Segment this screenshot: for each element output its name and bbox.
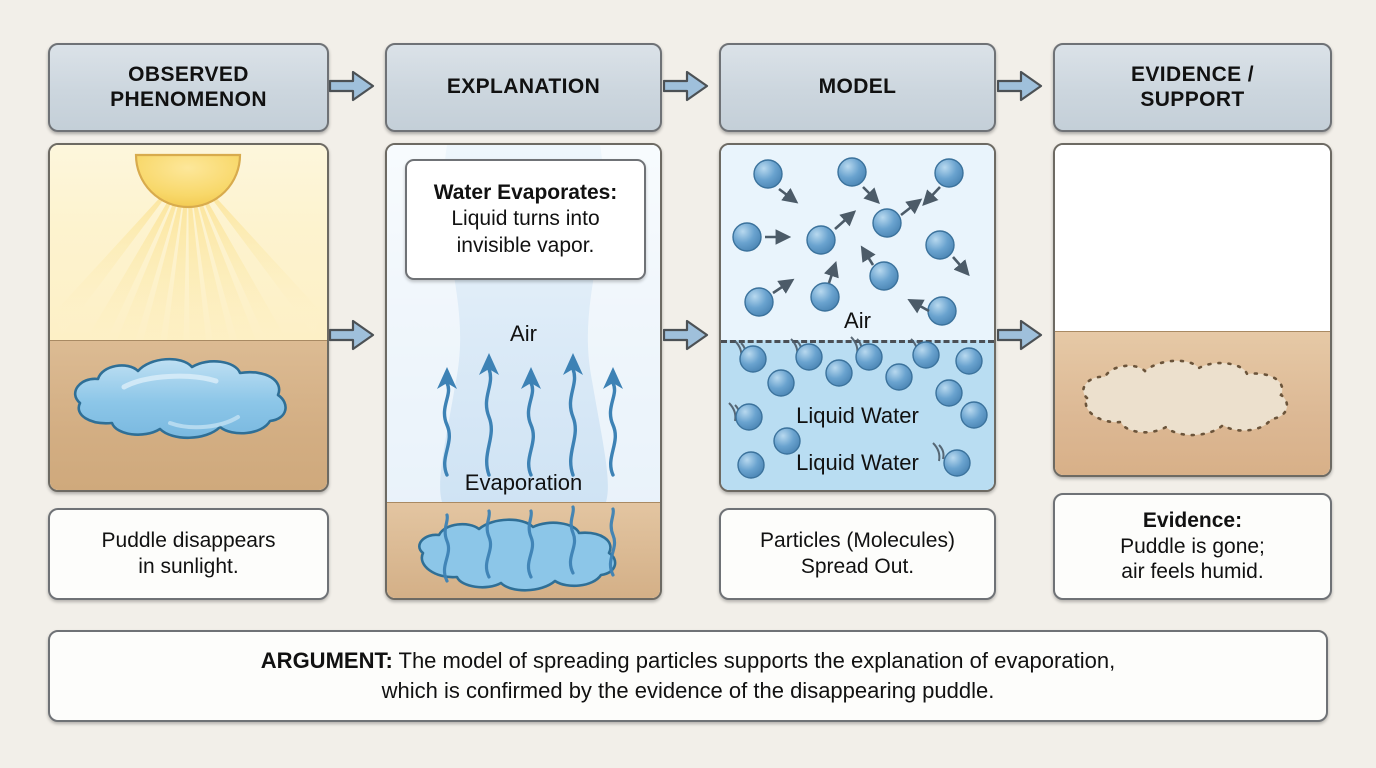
explanation-callout-line3: invisible vapor. xyxy=(434,233,618,259)
evidence-caption: Evidence: Puddle is gone; air feels humi… xyxy=(1053,493,1332,600)
puddle-full xyxy=(50,145,327,490)
air-label-model: Air xyxy=(721,308,994,334)
argument-banner: ARGUMENT: The model of spreading particl… xyxy=(48,630,1328,722)
liquid-water-label-1: Liquid Water xyxy=(721,403,994,429)
argument-label: ARGUMENT: xyxy=(261,648,393,673)
header-evidence-support-label: EVIDENCE / SUPPORT xyxy=(1131,63,1254,113)
diagram-canvas: OBSERVED PHENOMENON EXPLANATION MODEL EV… xyxy=(0,0,1376,768)
header-explanation[interactable]: EXPLANATION xyxy=(385,43,662,132)
dried-puddle-outline xyxy=(1055,145,1330,475)
header-explanation-label: EXPLANATION xyxy=(447,75,600,100)
header-model[interactable]: MODEL xyxy=(719,43,996,132)
evidence-panel[interactable] xyxy=(1053,143,1332,477)
arrow-header-3 xyxy=(997,69,1043,103)
header-model-label: MODEL xyxy=(819,75,897,100)
evidence-caption-line3: air feels humid. xyxy=(1120,559,1265,585)
arrow-header-1 xyxy=(329,69,375,103)
evaporation-label: Evaporation xyxy=(387,470,660,496)
explanation-callout-bold: Water Evaporates: xyxy=(434,180,618,206)
phenomenon-caption: Puddle disappears in sunlight. xyxy=(48,508,329,600)
model-caption-line2: Spread Out. xyxy=(760,554,955,580)
air-label-explanation: Air xyxy=(387,321,660,347)
argument-line2: which is confirmed by the evidence of th… xyxy=(261,676,1115,706)
arrow-header-2 xyxy=(663,69,709,103)
phenomenon-caption-line2: in sunlight. xyxy=(102,554,276,580)
phenomenon-caption-line1: Puddle disappears xyxy=(102,528,276,554)
argument-line1: The model of spreading particles support… xyxy=(393,648,1115,673)
arrow-panel-2 xyxy=(663,318,709,352)
header-observed-phenomenon[interactable]: OBSERVED PHENOMENON xyxy=(48,43,329,132)
model-caption-line1: Particles (Molecules) xyxy=(760,528,955,554)
header-evidence-support[interactable]: EVIDENCE / SUPPORT xyxy=(1053,43,1332,132)
header-observed-phenomenon-label: OBSERVED PHENOMENON xyxy=(110,63,267,113)
explanation-panel[interactable]: Air Evaporation Water Evaporates: Liquid… xyxy=(385,143,662,600)
explanation-callout-line2: Liquid turns into xyxy=(434,206,618,232)
evidence-caption-bold: Evidence: xyxy=(1120,508,1265,534)
arrow-panel-3 xyxy=(997,318,1043,352)
model-caption: Particles (Molecules) Spread Out. xyxy=(719,508,996,600)
phenomenon-panel[interactable] xyxy=(48,143,329,492)
model-panel[interactable]: Air Liquid Water Liquid Water xyxy=(719,143,996,492)
evidence-caption-line2: Puddle is gone; xyxy=(1120,534,1265,560)
liquid-water-label-2: Liquid Water xyxy=(721,450,994,476)
arrow-panel-1 xyxy=(329,318,375,352)
explanation-callout: Water Evaporates: Liquid turns into invi… xyxy=(405,159,646,280)
gas-particles xyxy=(733,158,963,325)
